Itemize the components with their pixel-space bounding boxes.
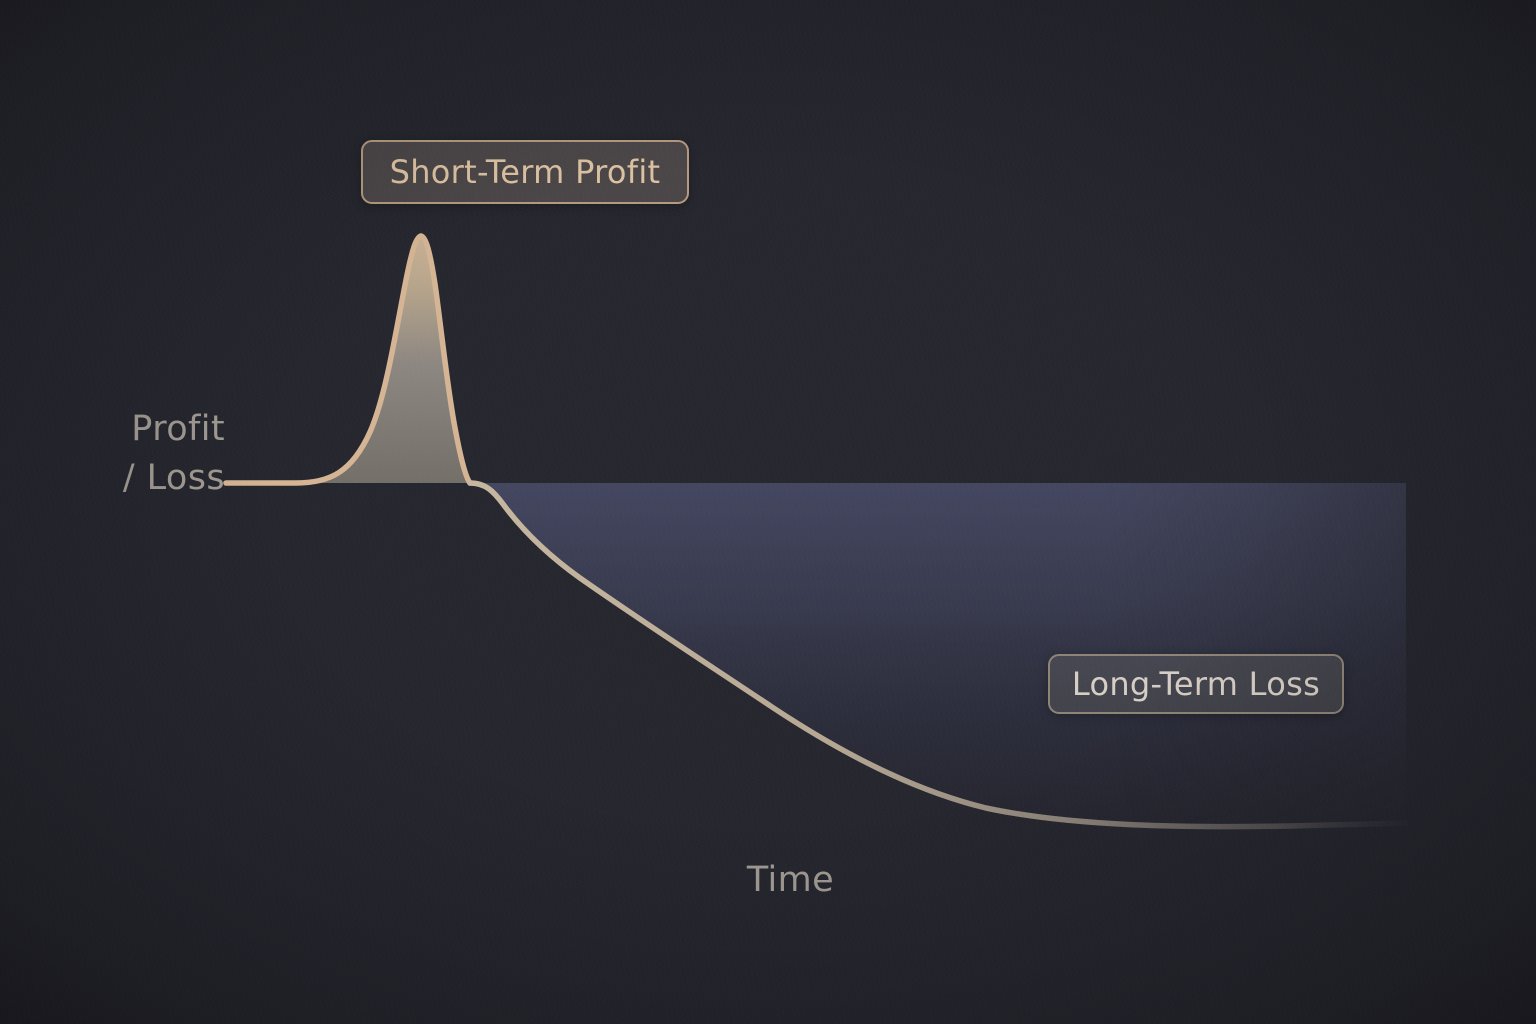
profit-loss-plot: [0, 0, 1536, 1024]
annotation-long-term-loss-text: Long-Term Loss: [1072, 665, 1320, 703]
chart-canvas: Profit / Loss Time Short-Term Profit Lon…: [0, 0, 1536, 1024]
annotation-short-term-profit-text: Short-Term Profit: [390, 153, 661, 191]
annotation-long-term-loss[interactable]: Long-Term Loss: [1048, 654, 1344, 714]
annotation-short-term-profit[interactable]: Short-Term Profit: [361, 140, 689, 204]
